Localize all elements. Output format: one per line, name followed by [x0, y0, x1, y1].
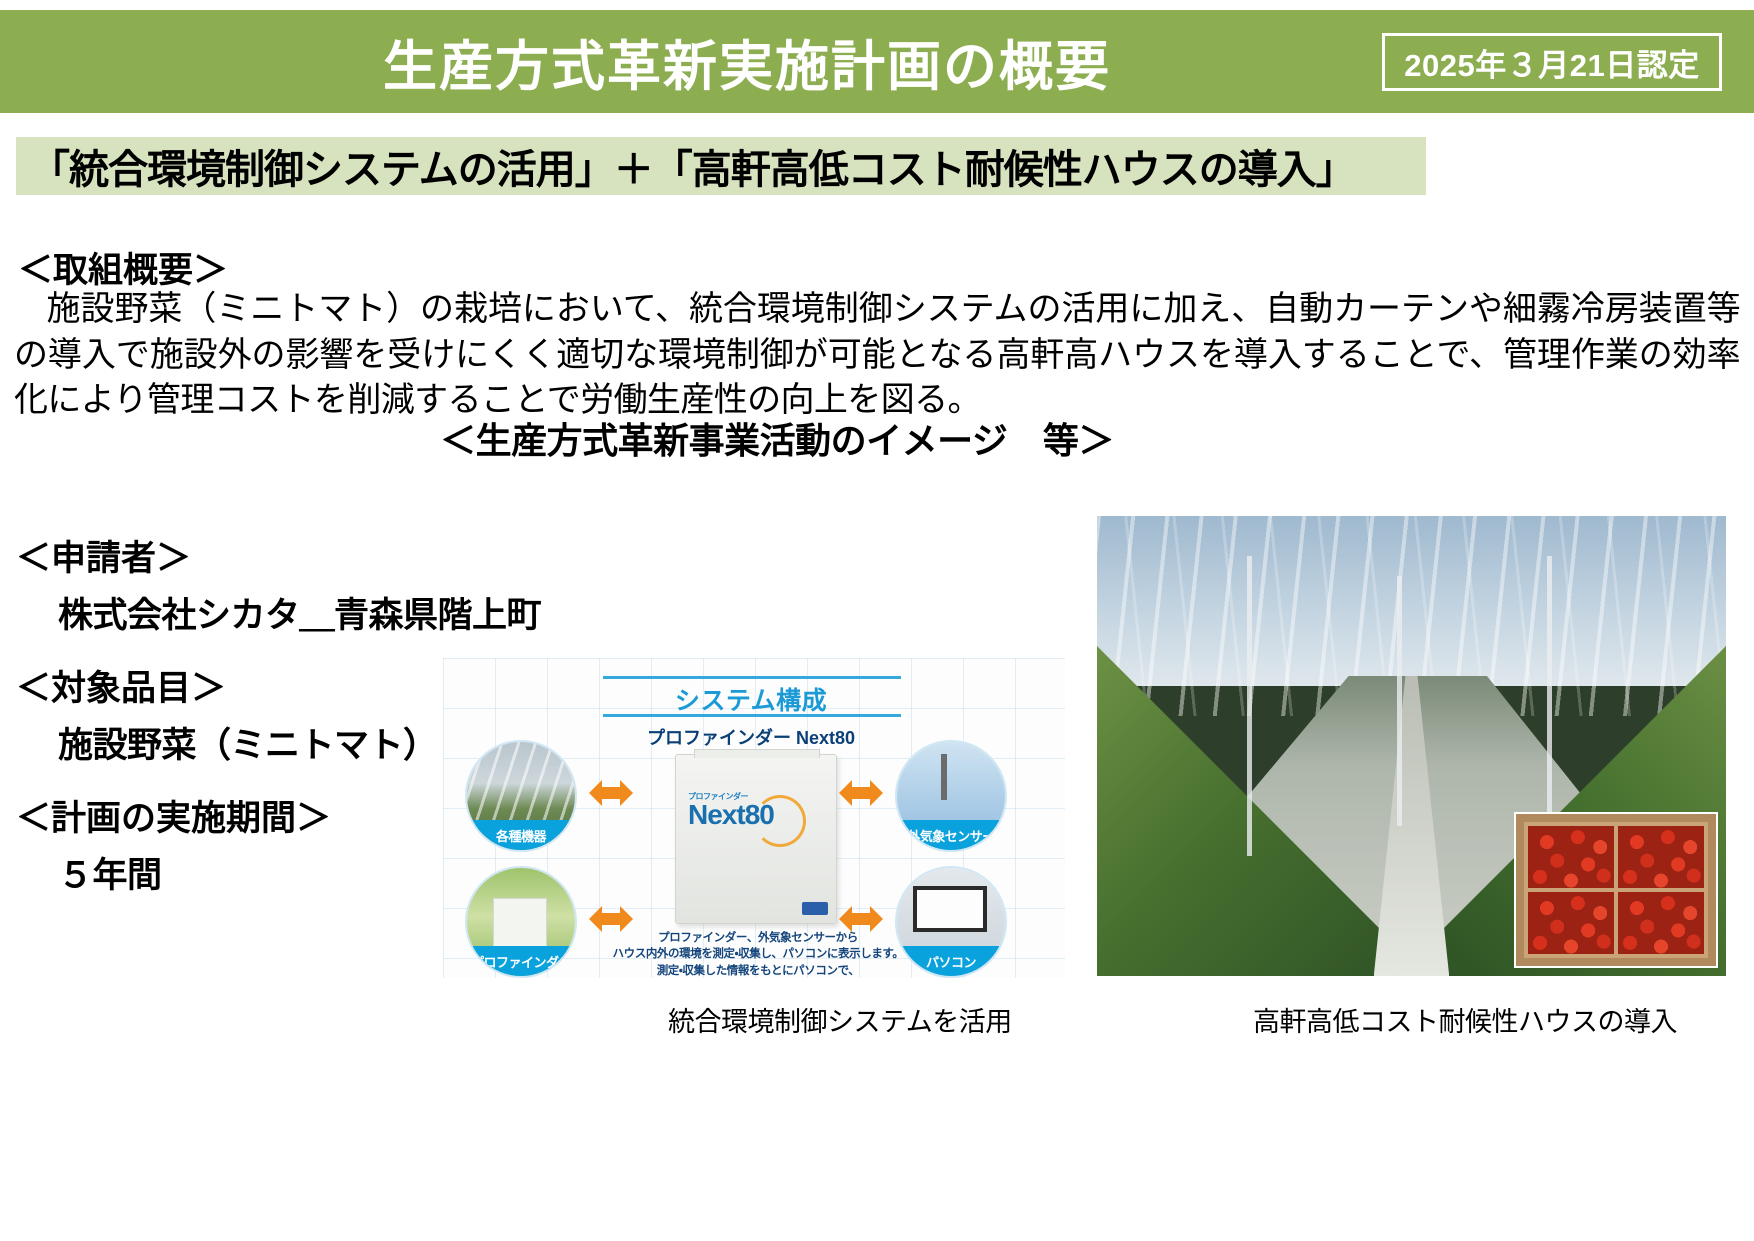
approval-date-badge: 2025年３月21日認定 — [1382, 33, 1722, 91]
info-value-applicant: 株式会社シカタ＿青森県階上町 — [16, 587, 541, 638]
diagram-title-rule-bottom — [603, 714, 901, 717]
double-arrow-icon — [589, 776, 633, 810]
tomato-crate-cell — [1528, 892, 1614, 954]
overview-heading: ＜取組概要＞ — [18, 242, 228, 293]
diagram-node-weather-sensor: 外気象センサー — [895, 740, 1007, 852]
diagram-title-rule-top — [603, 676, 901, 679]
info-value-target-item: 施設野菜（ミニトマト） — [16, 717, 438, 768]
info-label-period: ＜計画の実施期間＞ — [16, 790, 331, 841]
tomato-crate — [1524, 822, 1708, 958]
tomato-crate-cell — [1618, 892, 1704, 954]
controller-ring-accent — [754, 795, 806, 847]
info-group-target-item: ＜対象品目＞ 施設野菜（ミニトマト） — [16, 660, 438, 768]
subtitle-text: 「統合環境制御システムの活用」＋「高軒高低コスト耐候性ハウスの導入」 — [16, 137, 1355, 195]
info-group-period: ＜計画の実施期間＞ ５年間 — [16, 790, 331, 898]
diagram-node-profinder-label: プロファインダー — [467, 946, 575, 976]
greenhouse-post — [1397, 576, 1402, 826]
controller-badge — [802, 902, 828, 915]
diagram-node-equipment: 各種機器 — [465, 740, 577, 852]
controller-unit-tab — [694, 749, 820, 758]
greenhouse-photo-figure — [1097, 516, 1726, 976]
header-band: 生産方式革新実施計画の概要 2025年３月21日認定 — [0, 10, 1754, 113]
system-diagram-figure: システム構成 プロファインダー Next80 プロファインダー Next80 各… — [443, 658, 1065, 978]
info-value-period: ５年間 — [16, 847, 331, 898]
diagram-node-weather-sensor-label: 外気象センサー — [897, 820, 1005, 850]
diagram-note-line: 測定・収集した情報をもとにパソコンで、 — [593, 963, 923, 978]
caption-system-diagram: 統合環境制御システムを活用 — [668, 1000, 1012, 1039]
diagram-note-line: プロファインダー、外気象センサーから — [593, 930, 923, 946]
tomato-crate-cell — [1528, 826, 1614, 888]
caption-greenhouse: 高軒高低コスト耐候性ハウスの導入 — [1253, 1000, 1677, 1039]
tomato-crate-cell — [1618, 826, 1704, 888]
diagram-note-line: ハウス内外の環境を測定・収集し、パソコンに表示します。 — [593, 946, 923, 962]
controller-unit: プロファインダー Next80 — [675, 754, 837, 924]
diagram-node-profinder: プロファインダー — [465, 866, 577, 978]
diagram-note: プロファインダー、外気象センサーから ハウス内外の環境を測定・収集し、パソコンに… — [593, 930, 923, 978]
double-arrow-icon — [839, 776, 883, 810]
info-label-applicant: ＜申請者＞ — [16, 530, 541, 581]
greenhouse-post — [1247, 556, 1252, 856]
diagram-title: システム構成 — [611, 681, 891, 717]
image-section-heading: ＜生産方式革新事業活動のイメージ 等＞ — [0, 412, 1754, 464]
info-label-target-item: ＜対象品目＞ — [16, 660, 438, 711]
slide-root: 生産方式革新実施計画の概要 2025年３月21日認定 「統合環境制御システムの活… — [0, 0, 1754, 1241]
subtitle-band: 「統合環境制御システムの活用」＋「高軒高低コスト耐候性ハウスの導入」 — [16, 137, 1426, 195]
overview-body-text: 施設野菜（ミニトマト）の栽培において、統合環境制御システムの活用に加え、自動カー… — [14, 290, 1740, 419]
greenhouse-post — [1547, 556, 1552, 856]
diagram-node-equipment-label: 各種機器 — [467, 820, 575, 850]
info-group-applicant: ＜申請者＞ 株式会社シカタ＿青森県階上町 — [16, 530, 541, 638]
tomato-crate-inset-photo — [1514, 812, 1718, 968]
diagram-subtitle: プロファインダー Next80 — [611, 724, 891, 750]
overview-body: 施設野菜（ミニトマト）の栽培において、統合環境制御システムの活用に加え、自動カー… — [14, 287, 1740, 424]
